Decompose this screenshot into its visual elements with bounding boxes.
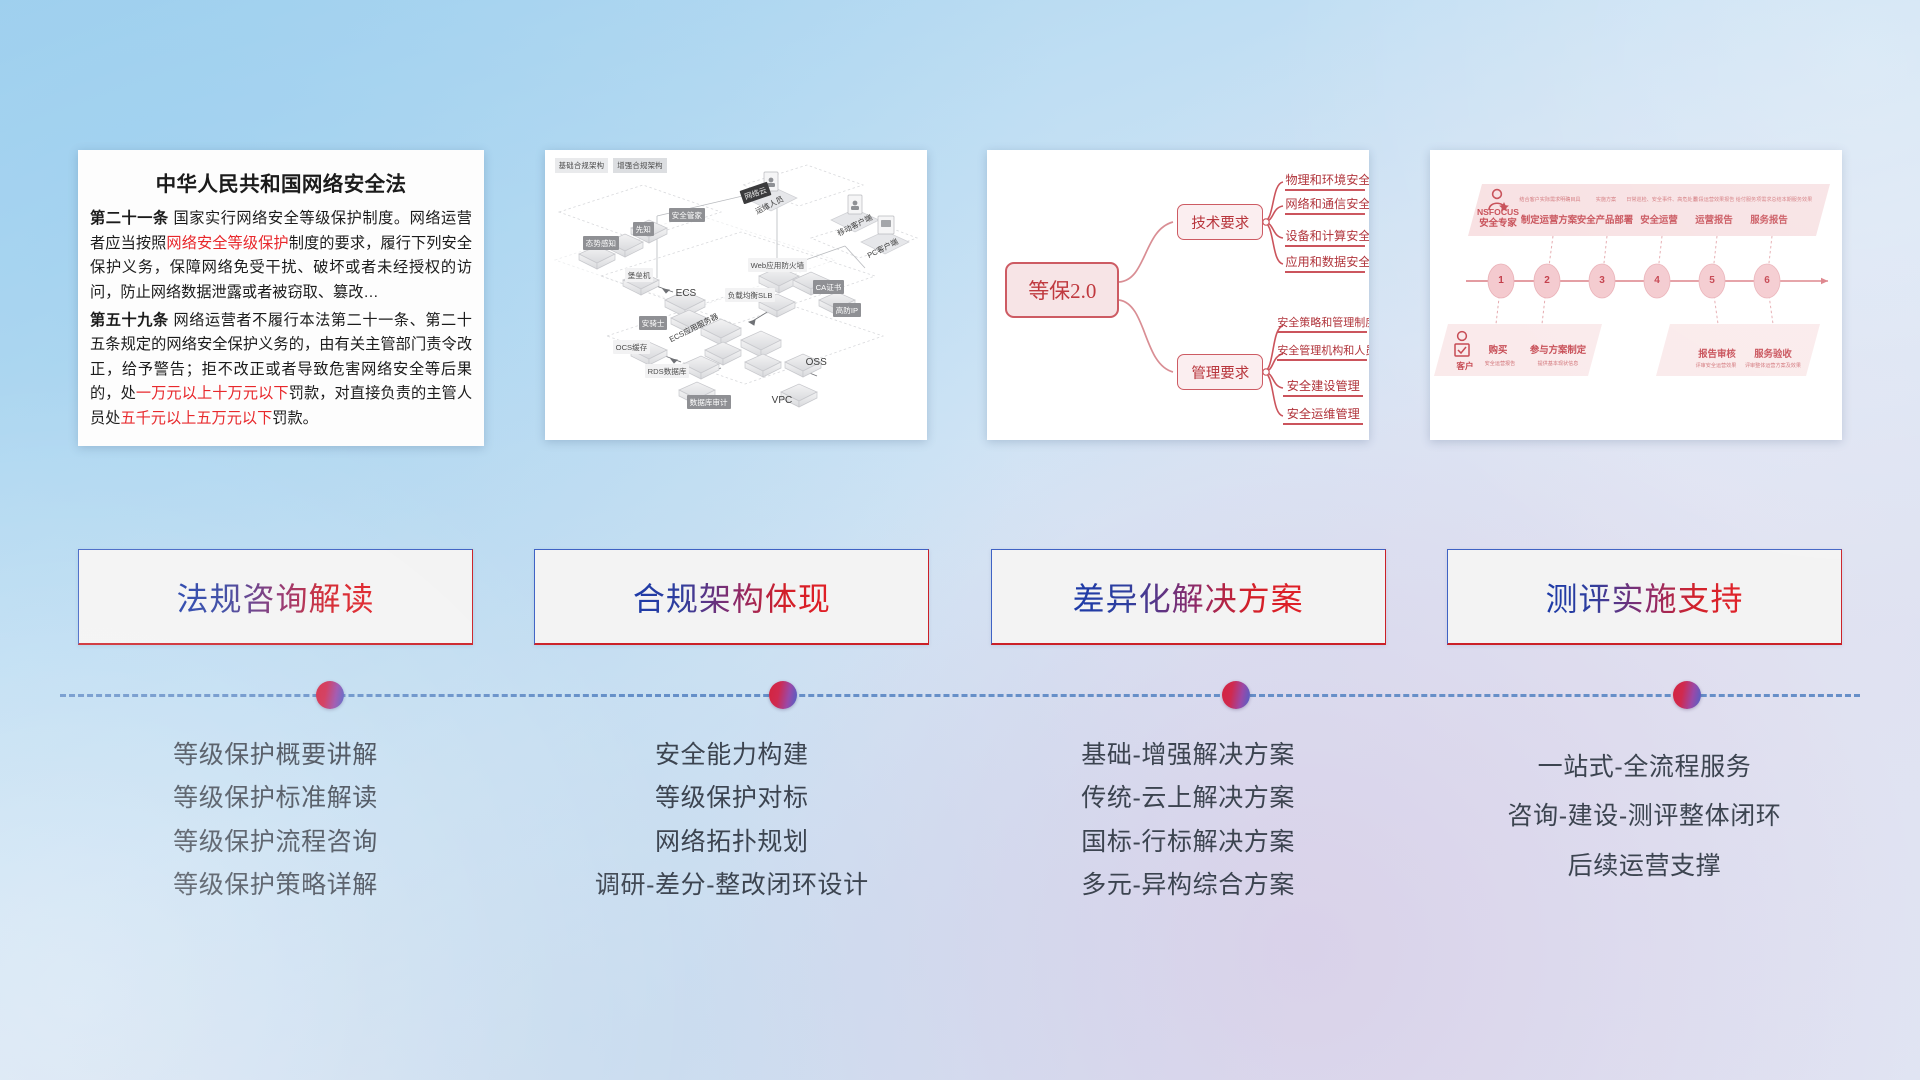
article-number: 第二十一条 xyxy=(90,210,169,227)
collapse-handle-management xyxy=(1263,369,1269,375)
node-label-anqishi: 安骑士 xyxy=(639,316,668,330)
flow-step-report: 运营报告 xyxy=(1685,212,1743,226)
list-item: 等级保护概要讲解 xyxy=(173,740,378,771)
flow-step-join-plan-desc: 提供基本现状信息 xyxy=(1526,360,1590,367)
law-article-21: 第二十一条 国家实行网络安全等级保护制度。网络运营者应当按照网络安全等级保护制度… xyxy=(90,207,472,306)
timeline-dot-2[interactable] xyxy=(769,681,797,709)
article-text-highlight-3: 五千元以上五万元以下 xyxy=(120,410,272,427)
list-item: 调研-差分-整改闭环设计 xyxy=(595,870,869,901)
flow-milestone-6: 6 xyxy=(1762,275,1772,286)
card-cybersecurity-law[interactable]: 中华人民共和国网络安全法 第二十一条 国家实行网络安全等级保护制度。网络运营者应… xyxy=(78,150,484,446)
flow-expert-role: NSFOCUS 安全专家 xyxy=(1474,206,1522,228)
list-item: 等级保护标准解读 xyxy=(173,783,378,814)
list-item: 后续运营支撑 xyxy=(1568,851,1722,882)
law-card-body: 第二十一条 国家实行网络安全等级保护制度。网络运营者应当按照网络安全等级保护制度… xyxy=(78,207,484,432)
node-label-anti-ddos-ip: 高防IP xyxy=(833,303,861,317)
node-label-ecs: ECS xyxy=(673,286,700,300)
flow-step-acceptance: 服务验收 xyxy=(1742,346,1804,360)
card-nsfocus-service-flow[interactable]: NSFOCUS 安全专家 制定运营方案 安全产品部署 安全运营 运营报告 服务报… xyxy=(1430,150,1842,440)
timeline-dot-1[interactable] xyxy=(316,681,344,709)
section-titles-row: 法规咨询解读 合规架构体现 差异化解决方案 测评实施支持 xyxy=(0,549,1920,645)
detail-list-regulation-consulting: 等级保护概要讲解 等级保护标准解读 等级保护流程咨询 等级保护策略详解 xyxy=(78,740,473,970)
list-item: 基础-增强解决方案 xyxy=(1081,740,1295,771)
list-item: 传统-云上解决方案 xyxy=(1081,783,1295,814)
node-label-xianzhi: 先知 xyxy=(633,222,654,236)
node-label-oss: OSS xyxy=(803,355,830,369)
timeline-dot-4[interactable] xyxy=(1673,681,1701,709)
flow-step-service: 服务报告 xyxy=(1740,212,1798,226)
slide-canvas: 中华人民共和国网络安全法 第二十一条 国家实行网络安全等级保护制度。网络运营者应… xyxy=(0,0,1920,1080)
article-text-highlight-1: 网络安全等级保护 xyxy=(166,235,288,252)
list-item: 等级保护流程咨询 xyxy=(173,827,378,858)
node-label-db-audit: 数据库审计 xyxy=(687,395,731,409)
node-label-web-waf: Web应用防火墙 xyxy=(748,258,807,272)
list-item: 一站式-全流程服务 xyxy=(1538,752,1752,783)
list-item: 等级保护对标 xyxy=(655,783,809,814)
mindmap-leaf-app-data[interactable]: 应用和数据安全 xyxy=(1285,252,1365,273)
node-label-ca-cert: CA证书 xyxy=(813,280,845,294)
node-label-security-butler: 安全管家 xyxy=(669,208,705,222)
mindmap-leaf-ops-mgmt[interactable]: 安全运维管理 xyxy=(1283,404,1363,425)
list-item: 网络拓扑规划 xyxy=(655,827,809,858)
card-compliance-architecture[interactable]: 基础合规架构 增强合规架构 xyxy=(545,150,927,440)
node-label-vpc: VPC xyxy=(769,393,796,407)
flow-step-service-desc: 给付服务项需求总结本期服务效果 xyxy=(1734,196,1814,203)
section-title-label: 差异化解决方案 xyxy=(1073,574,1304,620)
section-title-label: 法规咨询解读 xyxy=(176,574,374,620)
node-label-bastion-host: 堡垒机 xyxy=(625,268,654,282)
flow-step-deploy: 安全产品部署 xyxy=(1574,212,1636,226)
flow-milestone-5: 5 xyxy=(1707,275,1717,286)
section-title-label: 测评实施支持 xyxy=(1545,574,1743,620)
flow-step-review: 报告审核 xyxy=(1686,346,1748,360)
timeline-dot-3[interactable] xyxy=(1222,681,1250,709)
title-box-regulation-consulting[interactable]: 法规咨询解读 xyxy=(78,549,473,645)
flow-canvas xyxy=(1430,150,1842,440)
card-dengbao-mindmap[interactable]: 等保2.0 技术要求 管理要求 物理和环境安全 网络和通信安全 设备和计算安全 … xyxy=(987,150,1369,440)
architecture-diagram: 基础合规架构 增强合规架构 xyxy=(545,150,927,440)
flow-step-plan-desc: 结合客户实际需求明确目具 xyxy=(1516,196,1584,203)
flow-milestone-2: 2 xyxy=(1542,275,1552,286)
tab-basic-architecture[interactable]: 基础合规架构 xyxy=(555,158,609,173)
flow-step-operate: 安全运营 xyxy=(1630,212,1688,226)
list-item: 国标-行标解决方案 xyxy=(1081,827,1295,858)
flow-top-band xyxy=(1468,184,1830,236)
detail-list-assessment-support: 一站式-全流程服务 咨询-建设-测评整体闭环 后续运营支撑 xyxy=(1447,740,1842,970)
node-label-slb: 负载均衡SLB xyxy=(725,288,776,302)
flow-milestone-1: 1 xyxy=(1496,275,1506,286)
flow-step-purchase-desc: 安全运营报告 xyxy=(1476,360,1524,367)
mindmap-branch-management[interactable]: 管理要求 xyxy=(1177,354,1263,390)
section-title-label: 合规架构体现 xyxy=(633,574,831,620)
mindmap-leaf-security-policy[interactable]: 安全策略和管理制度 xyxy=(1277,314,1367,333)
list-item: 多元-异构综合方案 xyxy=(1081,870,1295,901)
article-text-plain-5: 罚款。 xyxy=(272,410,318,427)
title-box-differentiated-solution[interactable]: 差异化解决方案 xyxy=(991,549,1386,645)
title-box-assessment-support[interactable]: 测评实施支持 xyxy=(1447,549,1842,645)
flow-step-acceptance-desc: 评审整体运营方案及效果 xyxy=(1736,362,1810,369)
node-label-ocs-cache: OCS缓存 xyxy=(613,340,651,354)
mindmap-diagram: 等保2.0 技术要求 管理要求 物理和环境安全 网络和通信安全 设备和计算安全 … xyxy=(987,150,1369,440)
list-item: 安全能力构建 xyxy=(655,740,809,771)
architecture-tab-group[interactable]: 基础合规架构 增强合规架构 xyxy=(555,158,667,173)
collapse-handle-technical xyxy=(1263,219,1269,225)
flow-milestone-4: 4 xyxy=(1652,275,1662,286)
mindmap-leaf-device-compute[interactable]: 设备和计算安全 xyxy=(1285,226,1365,247)
mindmap-leaf-security-org[interactable]: 安全管理机构和人员 xyxy=(1277,342,1367,361)
detail-list-differentiated-solution: 基础-增强解决方案 传统-云上解决方案 国标-行标解决方案 多元-异构综合方案 xyxy=(991,740,1386,970)
flow-step-join-plan: 参与方案制定 xyxy=(1522,342,1594,356)
node-label-situation-awareness: 态势感知 xyxy=(583,236,619,250)
flow-step-purchase: 购买 xyxy=(1478,342,1518,356)
detail-lists-row: 等级保护概要讲解 等级保护标准解读 等级保护流程咨询 等级保护策略详解 安全能力… xyxy=(0,740,1920,970)
title-box-compliance-architecture[interactable]: 合规架构体现 xyxy=(534,549,929,645)
list-item: 咨询-建设-测评整体闭环 xyxy=(1508,801,1782,832)
list-item: 等级保护策略详解 xyxy=(173,870,378,901)
timeline xyxy=(60,694,1860,698)
mindmap-leaf-network-comm[interactable]: 网络和通信安全 xyxy=(1285,194,1365,215)
article-text-highlight-2: 一万元以上十万元以下 xyxy=(136,385,289,402)
mindmap-leaf-physical-env[interactable]: 物理和环境安全 xyxy=(1285,170,1365,191)
flow-diagram: NSFOCUS 安全专家 制定运营方案 安全产品部署 安全运营 运营报告 服务报… xyxy=(1430,150,1842,440)
detail-list-compliance-architecture: 安全能力构建 等级保护对标 网络拓扑规划 调研-差分-整改闭环设计 xyxy=(534,740,929,970)
law-article-59: 第五十九条 网络运营者不履行本法第二十一条、第二十五条规定的网络安全保护义务的，… xyxy=(90,309,472,432)
mindmap-branch-technical[interactable]: 技术要求 xyxy=(1177,204,1263,240)
article-number: 第五十九条 xyxy=(90,312,169,329)
mindmap-root-node[interactable]: 等保2.0 xyxy=(1005,262,1119,318)
tab-enhanced-architecture[interactable]: 增强合规架构 xyxy=(613,158,667,173)
flow-customer-role: 客户 xyxy=(1454,360,1476,372)
flow-step-plan: 制定运营方案 xyxy=(1518,212,1580,226)
law-card-title: 中华人民共和国网络安全法 xyxy=(78,150,484,207)
flow-milestone-3: 3 xyxy=(1597,275,1607,286)
mindmap-leaf-construction-mgmt[interactable]: 安全建设管理 xyxy=(1283,376,1363,397)
node-label-rds-database: RDS数据库 xyxy=(645,364,690,378)
preview-cards-row: 中华人民共和国网络安全法 第二十一条 国家实行网络安全等级保护制度。网络运营者应… xyxy=(0,150,1920,450)
